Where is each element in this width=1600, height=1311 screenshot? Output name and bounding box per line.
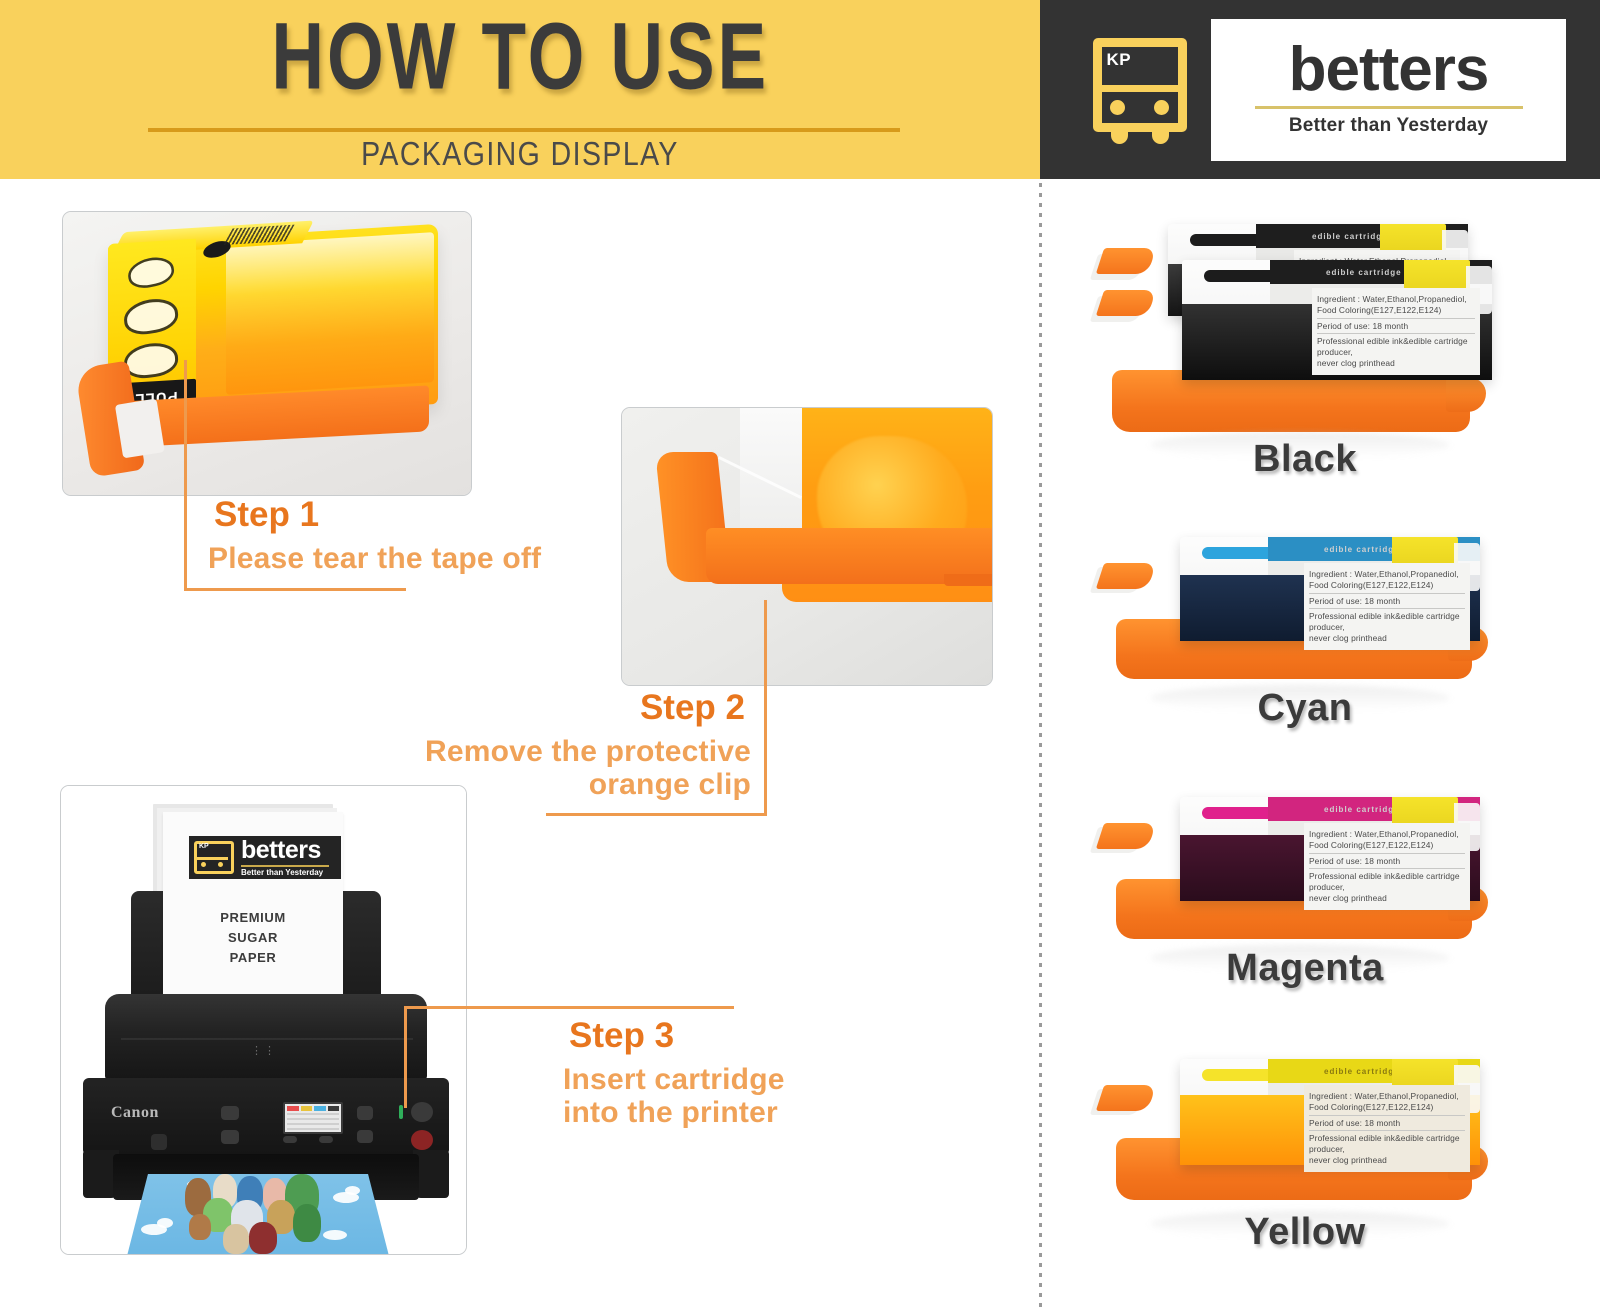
ingredient-line1: Ingredient : Water,Ethanol,Propanediol, (1317, 294, 1475, 305)
producer-note-line1: Professional edible ink&edible cartridge… (1317, 336, 1475, 358)
black-band-text-back: edible cartridge (1312, 232, 1388, 241)
printer-power-button[interactable] (411, 1102, 433, 1122)
magenta-cartridge: edible cartridge Ingredient : Water,Etha… (1180, 797, 1480, 901)
yellow-cartridge: edible cartridge Ingredient : Water,Etha… (1180, 1059, 1480, 1165)
ingredient-line1: Ingredient : Water,Ethanol,Propanediol, (1309, 1091, 1465, 1102)
printer-wireless-icon (151, 1134, 167, 1150)
printer-stop-button[interactable] (411, 1130, 433, 1150)
page-title: HOW TO USE (271, 12, 769, 102)
printer-back-button[interactable] (221, 1130, 239, 1144)
printer-lid (105, 994, 427, 1080)
step3-description-line2: into the printer (563, 1096, 785, 1130)
period-of-use: Period of use: 18 month (1309, 596, 1465, 607)
printer-power-led (399, 1105, 403, 1119)
paper-brand-logo: KP betters Better than Yesterday (189, 836, 341, 879)
step2-tag: Step 2 (634, 690, 751, 730)
step1-tag: Step 1 (208, 497, 325, 537)
paper-line-1: PREMIUM (163, 908, 343, 928)
step2-callout-line-vertical (764, 600, 767, 816)
paper-type-text: PREMIUM SUGAR PAPER (163, 908, 343, 968)
panel-divider (1039, 183, 1042, 1311)
magenta-band-text: edible cartridge (1324, 805, 1400, 814)
period-of-use: Period of use: 18 month (1317, 321, 1475, 332)
printer-settings-button[interactable] (357, 1106, 373, 1120)
ingredient-line2: Food Coloring(E127,E122,E124) (1317, 305, 1475, 316)
black-band-text-front: edible cartridge (1326, 268, 1402, 277)
cartridge-block-magenta: edible cartridge Ingredient : Water,Etha… (1090, 765, 1520, 1005)
cartridge-name-black: Black (1090, 438, 1520, 481)
cartridge-name-magenta: Magenta (1090, 947, 1520, 990)
black-label-front: Ingredient : Water,Ethanol,Propanediol, … (1312, 288, 1480, 375)
header-divider-rule (148, 128, 900, 132)
step2-description-line1: Remove the protective (399, 735, 751, 769)
header-subtitle: PACKAGING DISPLAY (26, 136, 1014, 174)
step1-callout-line-vertical (184, 360, 187, 591)
period-of-use: Period of use: 18 month (1309, 856, 1465, 867)
producer-note-line2: never clog printhead (1309, 633, 1465, 644)
header: HOW TO USE PACKAGING DISPLAY KP (0, 0, 1600, 179)
header-title-panel: HOW TO USE PACKAGING DISPLAY (0, 0, 1040, 179)
producer-note-line1: Professional edible ink&edible cartridge… (1309, 871, 1465, 893)
yellow-label: Ingredient : Water,Ethanol,Propanediol, … (1304, 1085, 1470, 1172)
printer-left-arrow-button[interactable] (283, 1136, 297, 1143)
yellow-band-text: edible cartridge (1324, 1067, 1400, 1076)
step2-protective-clip (662, 452, 992, 604)
printed-image-sheet (127, 1174, 389, 1255)
ingredient-line2: Food Coloring(E127,E122,E124) (1309, 840, 1465, 851)
nfc-icon: ⋮⋮ (245, 1044, 283, 1062)
producer-note-line2: never clog printhead (1309, 893, 1465, 904)
ingredient-line2: Food Coloring(E127,E122,E124) (1309, 580, 1465, 591)
black-cartridge-front: edible cartridge Ingredient : Water,Etha… (1182, 260, 1492, 380)
printer-copy-button[interactable] (221, 1106, 239, 1120)
paper-brand-wordmark: betters (241, 838, 329, 863)
magenta-label: Ingredient : Water,Ethanol,Propanediol, … (1304, 823, 1470, 910)
step1-callout-line-horizontal (184, 588, 406, 591)
paper-line-2: SUGAR (163, 928, 343, 948)
step2-callout-line-horizontal (546, 813, 767, 816)
producer-note-line2: never clog printhead (1309, 1155, 1465, 1166)
cartridge-name-yellow: Yellow (1090, 1211, 1520, 1254)
ingredient-line1: Ingredient : Water,Ethanol,Propanediol, (1309, 829, 1465, 840)
step1-photo: PULL (62, 211, 472, 496)
step2-description-line2: orange clip (399, 768, 751, 802)
producer-note-line1: Professional edible ink&edible cartridge… (1309, 611, 1465, 633)
cartridge-block-yellow: edible cartridge Ingredient : Water,Etha… (1090, 1025, 1520, 1270)
step3-caption: Step 3 Insert cartridge into the printer (563, 1018, 785, 1130)
cyan-band-text: edible cartridge (1324, 545, 1400, 554)
printer-display (283, 1102, 343, 1134)
bus-icon: KP (1068, 19, 1211, 161)
brand-tagline: Better than Yesterday (1289, 115, 1488, 137)
step1-caption: Step 1 Please tear the tape off (208, 497, 541, 575)
period-of-use: Period of use: 18 month (1309, 1118, 1465, 1129)
step3-description-line1: Insert cartridge (563, 1063, 785, 1097)
step2-caption: Step 2 Remove the protective orange clip (399, 690, 751, 802)
cyan-label: Ingredient : Water,Ethanol,Propanediol, … (1304, 563, 1470, 650)
step3-callout-line-horizontal (404, 1006, 734, 1009)
printer-right-arrow-button[interactable] (319, 1136, 333, 1143)
step3-tag: Step 3 (563, 1018, 680, 1058)
printer-ok-button[interactable] (357, 1130, 373, 1143)
step2-photo (621, 407, 993, 686)
sugar-paper-sheet: KP betters Better than Yesterday PREMIUM… (163, 812, 343, 1004)
cyan-cartridge: edible cartridge Ingredient : Water,Etha… (1180, 537, 1480, 641)
cartridge-block-cyan: edible cartridge Ingredient : Water,Etha… (1090, 505, 1520, 745)
brand-logo: KP betters Better than Yesterday (1068, 19, 1566, 161)
cartridge-block-black: edible cartridge Ingredient : Water,Etha… (1090, 200, 1520, 490)
producer-note-line2: never clog printhead (1317, 358, 1475, 369)
bus-icon-label: KP (1107, 50, 1132, 70)
brand-wordmark-group: betters Better than Yesterday (1211, 19, 1566, 161)
paper-bus-icon-label: KP (199, 843, 209, 850)
brand-panel: KP betters Better than Yesterday (1040, 0, 1600, 179)
ingredient-line1: Ingredient : Water,Ethanol,Propanediol, (1309, 569, 1465, 580)
paper-brand-tagline: Better than Yesterday (241, 868, 329, 877)
brand-wordmark: betters (1289, 39, 1489, 101)
brand-rule (1255, 106, 1523, 109)
printer-brand-label: Canon (111, 1104, 159, 1122)
step3-callout-line-vertical (404, 1006, 407, 1108)
step1-description: Please tear the tape off (208, 542, 541, 576)
ingredient-line2: Food Coloring(E127,E122,E124) (1309, 1102, 1465, 1113)
poster-root: HOW TO USE PACKAGING DISPLAY KP (0, 0, 1600, 1311)
paper-bus-icon: KP (194, 841, 234, 874)
cartridge-name-cyan: Cyan (1090, 687, 1520, 730)
paper-line-3: PAPER (163, 948, 343, 968)
producer-note-line1: Professional edible ink&edible cartridge… (1309, 1133, 1465, 1155)
